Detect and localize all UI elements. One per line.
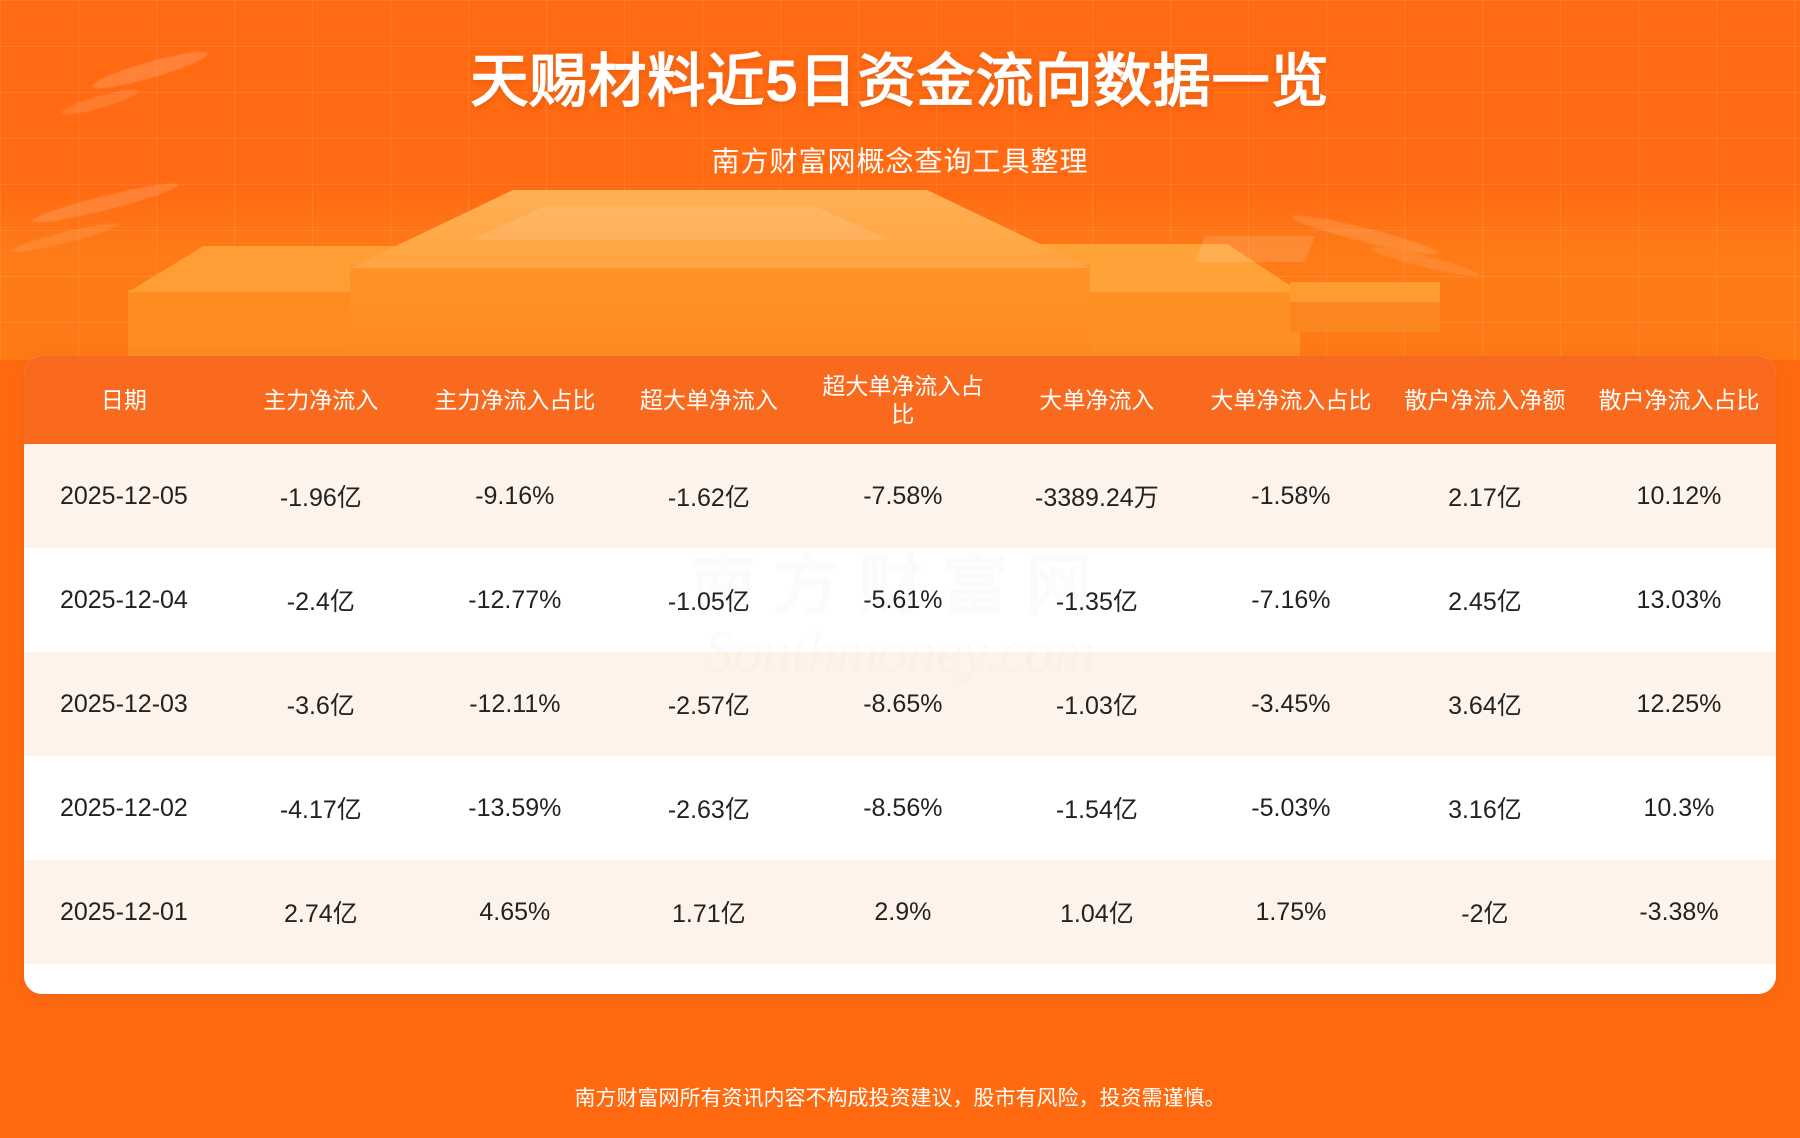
cell-xl-net: -1.62亿: [612, 444, 806, 548]
cell-xl-net: -2.63亿: [612, 756, 806, 860]
column-header-xl-pct[interactable]: 超大单净流入占比: [806, 356, 1000, 444]
column-header-xl-net[interactable]: 超大单净流入: [612, 356, 806, 444]
cell-main-net: 2.74亿: [224, 860, 418, 964]
cell-date: 2025-12-02: [24, 756, 224, 860]
fund-flow-table: 日期 主力净流入 主力净流入占比 超大单净流入 超大单净流入占比 大单净流入 大…: [24, 356, 1776, 964]
table-row[interactable]: 2025-12-05 -1.96亿 -9.16% -1.62亿 -7.58% -…: [24, 444, 1776, 548]
card-bottom-padding: [24, 964, 1776, 994]
column-header-lg-pct[interactable]: 大单净流入占比: [1194, 356, 1388, 444]
cell-xl-net: -2.57亿: [612, 652, 806, 756]
cell-main-pct: -12.11%: [418, 652, 612, 756]
cell-xl-pct: 2.9%: [806, 860, 1000, 964]
cell-lg-pct: 1.75%: [1194, 860, 1388, 964]
podium-platform-face: [350, 265, 1090, 360]
cell-xl-pct: -7.58%: [806, 444, 1000, 548]
cell-main-pct: -12.77%: [418, 548, 612, 652]
cell-retail-pct: 12.25%: [1582, 652, 1776, 756]
podium-block-right2-top: [1290, 282, 1440, 302]
cell-lg-pct: -5.03%: [1194, 756, 1388, 860]
cell-lg-pct: -3.45%: [1194, 652, 1388, 756]
cell-xl-pct: -8.65%: [806, 652, 1000, 756]
column-header-lg-net[interactable]: 大单净流入: [1000, 356, 1194, 444]
cell-date: 2025-12-04: [24, 548, 224, 652]
table-body: 2025-12-05 -1.96亿 -9.16% -1.62亿 -7.58% -…: [24, 444, 1776, 964]
cell-lg-net: -1.54亿: [1000, 756, 1194, 860]
cell-retail-pct: 10.3%: [1582, 756, 1776, 860]
cell-xl-net: -1.05亿: [612, 548, 806, 652]
podium-highlight: [1195, 236, 1316, 262]
cell-main-pct: 4.65%: [418, 860, 612, 964]
cell-xl-pct: -5.61%: [806, 548, 1000, 652]
cell-main-net: -4.17亿: [224, 756, 418, 860]
cell-retail-pct: 13.03%: [1582, 548, 1776, 652]
cell-date: 2025-12-05: [24, 444, 224, 548]
column-header-retail-net[interactable]: 散户净流入净额: [1388, 356, 1582, 444]
cell-retail-pct: 10.12%: [1582, 444, 1776, 548]
column-header-date[interactable]: 日期: [24, 356, 224, 444]
fund-flow-card: 南方财富网 Southmoney.com 日期 主力净流入 主力净流入占比 超大…: [24, 356, 1776, 994]
cell-retail-net: 2.17亿: [1388, 444, 1582, 548]
cell-lg-net: -1.35亿: [1000, 548, 1194, 652]
cell-main-net: -1.96亿: [224, 444, 418, 548]
podium-block-right2-face: [1290, 298, 1440, 332]
table-row[interactable]: 2025-12-03 -3.6亿 -12.11% -2.57亿 -8.65% -…: [24, 652, 1776, 756]
cell-lg-pct: -7.16%: [1194, 548, 1388, 652]
cell-lg-pct: -1.58%: [1194, 444, 1388, 548]
cell-main-pct: -9.16%: [418, 444, 612, 548]
disclaimer-text: 南方财富网所有资讯内容不构成投资建议，股市有风险，投资需谨慎。: [0, 1082, 1800, 1112]
cell-xl-net: 1.71亿: [612, 860, 806, 964]
table-row[interactable]: 2025-12-01 2.74亿 4.65% 1.71亿 2.9% 1.04亿 …: [24, 860, 1776, 964]
cell-lg-net: -3389.24万: [1000, 444, 1194, 548]
table-row[interactable]: 2025-12-02 -4.17亿 -13.59% -2.63亿 -8.56% …: [24, 756, 1776, 860]
cell-date: 2025-12-01: [24, 860, 224, 964]
cell-retail-net: 3.64亿: [1388, 652, 1582, 756]
page-subtitle: 南方财富网概念查询工具整理: [0, 140, 1800, 180]
cell-retail-net: -2亿: [1388, 860, 1582, 964]
table-row[interactable]: 2025-12-04 -2.4亿 -12.77% -1.05亿 -5.61% -…: [24, 548, 1776, 652]
cell-main-pct: -13.59%: [418, 756, 612, 860]
cell-date: 2025-12-03: [24, 652, 224, 756]
cell-main-net: -2.4亿: [224, 548, 418, 652]
cell-retail-pct: -3.38%: [1582, 860, 1776, 964]
cell-retail-net: 2.45亿: [1388, 548, 1582, 652]
cell-lg-net: 1.04亿: [1000, 860, 1194, 964]
table-header-row: 日期 主力净流入 主力净流入占比 超大单净流入 超大单净流入占比 大单净流入 大…: [24, 356, 1776, 444]
cell-lg-net: -1.03亿: [1000, 652, 1194, 756]
cell-main-net: -3.6亿: [224, 652, 418, 756]
table-header: 日期 主力净流入 主力净流入占比 超大单净流入 超大单净流入占比 大单净流入 大…: [24, 356, 1776, 444]
page-title: 天赐材料近5日资金流向数据一览: [0, 34, 1800, 118]
podium-illustration: [0, 180, 1800, 360]
column-header-main-pct[interactable]: 主力净流入占比: [418, 356, 612, 444]
cell-retail-net: 3.16亿: [1388, 756, 1582, 860]
cell-xl-pct: -8.56%: [806, 756, 1000, 860]
column-header-retail-pct[interactable]: 散户净流入占比: [1582, 356, 1776, 444]
column-header-main-net[interactable]: 主力净流入: [224, 356, 418, 444]
